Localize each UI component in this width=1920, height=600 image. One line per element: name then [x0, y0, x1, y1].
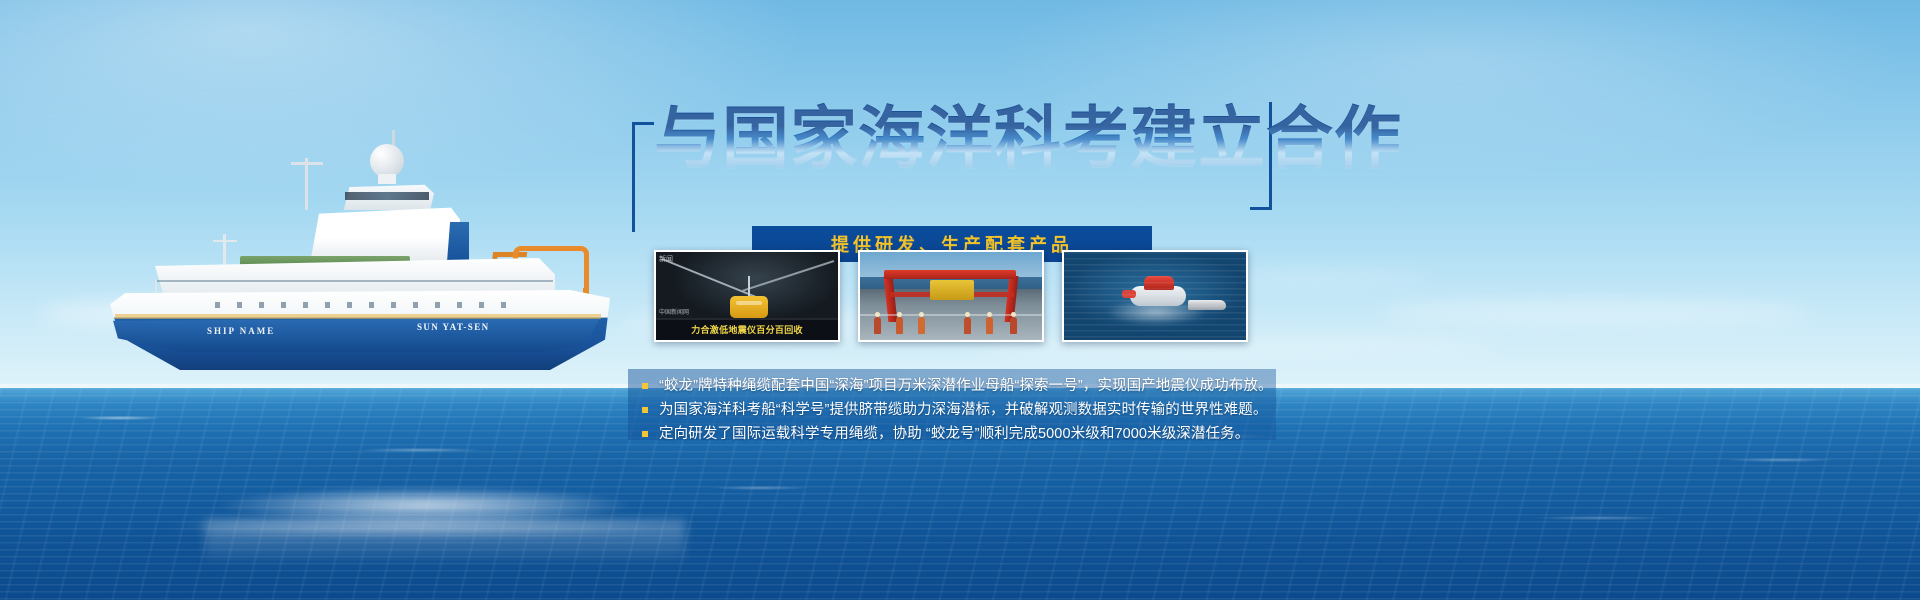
crew-member [1010, 317, 1017, 334]
thumbnail-deep-sea-seismograph[interactable]: 新闻 中国新闻网 力合激低地震仪百分百回收 [654, 250, 840, 342]
crane-beam [884, 270, 1016, 279]
bullet-text: 定向研发了国际运载科学专用绳缆，协助 “蛟龙号”顺利完成5000米级和7000米… [659, 423, 1249, 446]
crew-member [874, 317, 881, 334]
bullet-square-icon [642, 383, 648, 389]
list-item: “蛟龙”牌特种绳缆配套中国“深海”项目万米深潜作业母船“探索一号”，实现国产地震… [628, 375, 1276, 399]
crew-member [964, 317, 971, 334]
thumbnail-caption-bar: 力合激低地震仪百分百回收 [656, 318, 838, 340]
list-item: 定向研发了国际运载科学专用绳缆，协助 “蛟龙号”顺利完成5000米级和7000米… [628, 423, 1276, 447]
thumbnail-manned-submersible[interactable] [1062, 250, 1248, 342]
banner-content: 与国家海洋科考建立合作 提供研发、生产配套产品 新闻 中国新闻网 力合激低地震仪… [0, 0, 1920, 600]
headline-block: 与国家海洋科考建立合作 [632, 96, 1272, 214]
thumbnail-caption-text: 力合激低地震仪百分百回收 [691, 323, 803, 336]
ocean-research-banner: SHIP NAME SUN YAT-SEN 与国家海洋科考建立合作 提供研发、生… [0, 0, 1920, 600]
highlights-panel: “蛟龙”牌特种绳缆配套中国“深海”项目万米深潜作业母船“探索一号”，实现国产地震… [628, 369, 1276, 440]
thumbnail-strip: 新闻 中国新闻网 力合激低地震仪百分百回收 [654, 250, 1264, 350]
crew-member [986, 317, 993, 334]
bullet-square-icon [642, 431, 648, 437]
bullet-square-icon [642, 407, 648, 413]
thumbnail-corner-label: 新闻 [659, 254, 673, 264]
bullet-text: “蛟龙”牌特种绳缆配套中国“深海”项目万米深潜作业母船“探索一号”，实现国产地震… [659, 375, 1273, 398]
bullet-text: 为国家海洋科考船“科学号”提供脐带缆助力深海潜标，并破解观测数据实时传输的世界性… [659, 399, 1267, 422]
thumbnail-research-vessel-crane[interactable] [858, 250, 1044, 342]
water-ripples [1064, 252, 1246, 340]
bracket-left-decoration [632, 122, 654, 232]
deployed-equipment [930, 280, 974, 300]
crew-member [896, 317, 903, 334]
list-item: 为国家海洋科考船“科学号”提供脐带缆助力深海潜标，并破解观测数据实时传输的世界性… [628, 399, 1276, 423]
seismograph-float [730, 296, 768, 318]
page-title: 与国家海洋科考建立合作 [654, 100, 1402, 178]
lift-line [748, 276, 750, 298]
thumbnail-source-label: 中国新闻网 [659, 307, 689, 316]
crew-member [918, 317, 925, 334]
